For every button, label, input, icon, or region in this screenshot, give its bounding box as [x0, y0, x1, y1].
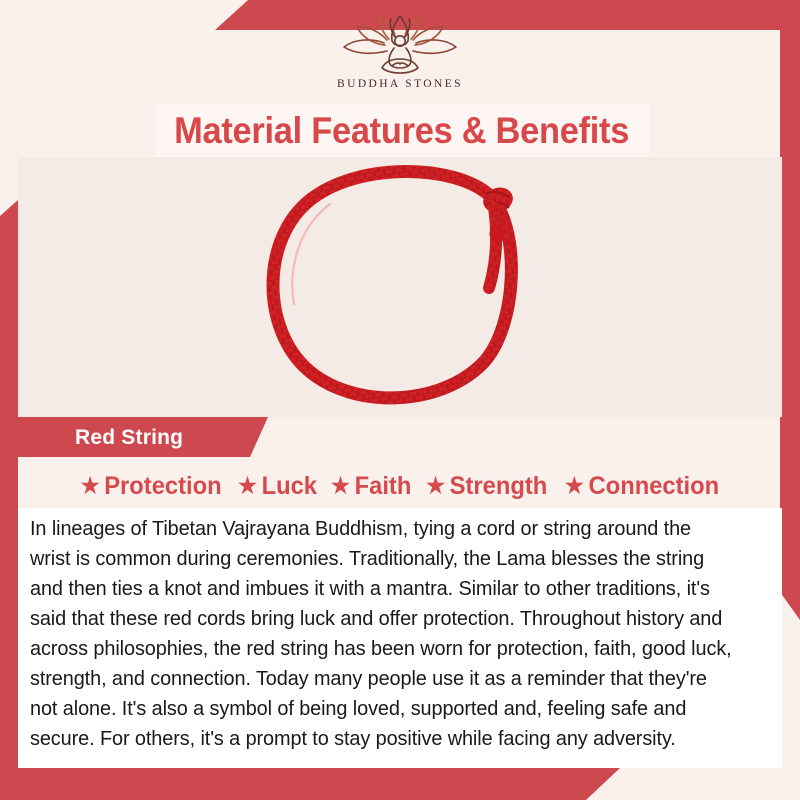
- brand-name: BUDDHA STONES: [337, 78, 463, 90]
- benefit-item-protection: ★ Protection: [81, 472, 222, 501]
- benefit-label: Connection: [588, 472, 719, 501]
- brand-logo: BUDDHA STONES: [0, 14, 800, 90]
- benefit-label: Strength: [450, 472, 548, 501]
- star-icon: ★: [81, 475, 100, 497]
- benefit-label: Faith: [354, 472, 411, 501]
- star-icon: ★: [331, 475, 350, 497]
- brand-header: BUDDHA STONES: [0, 0, 800, 104]
- benefit-label: Protection: [104, 472, 221, 501]
- benefit-item-faith: ★ Faith: [331, 472, 411, 501]
- star-icon: ★: [426, 475, 445, 497]
- star-icon: ★: [565, 475, 584, 497]
- decorative-bar-left: [0, 200, 18, 800]
- benefit-label: Luck: [261, 472, 316, 501]
- benefit-item-luck: ★ Luck: [238, 472, 317, 501]
- product-label-ribbon: Red String: [18, 417, 268, 457]
- page-title-band: Material Features & Benefits: [155, 104, 649, 157]
- product-label: Red String: [75, 427, 183, 448]
- description-text: In lineages of Tibetan Vajrayana Buddhis…: [30, 514, 736, 754]
- infographic-page: BUDDHA STONES Material Features & Benefi…: [0, 0, 800, 800]
- lotus-meditation-icon: [325, 14, 475, 76]
- benefit-item-connection: ★ Connection: [565, 472, 719, 501]
- benefits-list: ★ Protection ★ Luck ★ Faith ★ Strength ★…: [18, 464, 782, 508]
- product-photo: [18, 157, 782, 417]
- page-title: Material Features & Benefits: [175, 112, 630, 149]
- red-string-bracelet-image: [230, 157, 570, 417]
- star-icon: ★: [238, 475, 257, 497]
- description-panel: In lineages of Tibetan Vajrayana Buddhis…: [18, 508, 782, 768]
- benefit-item-strength: ★ Strength: [426, 472, 547, 501]
- decorative-bar-bottom: [0, 768, 620, 800]
